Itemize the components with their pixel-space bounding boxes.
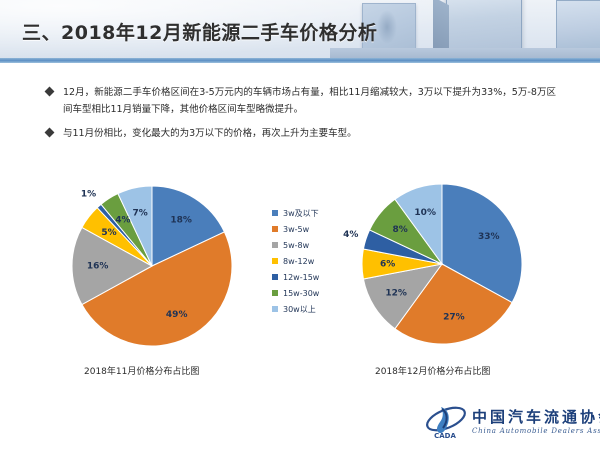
legend-label: 12w-15w [283,273,319,282]
legend-label: 3w-5w [283,225,309,234]
slide-footer: CADA 中国汽车流通协会 China Automobile Dealers A… [0,398,600,450]
pie-slice-label: 18% [170,216,192,226]
pie-slice-label: 10% [414,208,436,218]
legend-swatch-icon [272,226,278,232]
legend-swatch-icon [272,274,278,280]
cada-abbr-text: CADA [434,432,456,440]
bullet-item: 与11月份相比，变化最大的为3万以下的价格，再次上升为主要车型。 [46,125,556,142]
pie-slice-label: 12% [385,289,407,299]
legend-swatch-icon [272,242,278,248]
pie-slice-label: 7% [132,208,147,218]
diamond-bullet-icon [45,128,55,138]
cada-logo: CADA 中国汽车流通协会 China Automobile Dealers A… [424,404,600,440]
legend-label: 5w-8w [283,241,309,250]
cube-edge-icon [556,0,600,50]
legend-swatch-icon [272,290,278,296]
legend-item[interactable]: 15w-30w [272,286,356,300]
pie-svg-december: 33%27%12%6%4%8%10% [358,180,526,348]
pie-chart-december: 33%27%12%6%4%8%10% [358,180,526,348]
cada-logo-en: China Automobile Dealers Association [472,426,600,436]
legend-swatch-icon [272,210,278,216]
legend-item[interactable]: 3w及以下 [272,206,356,220]
legend-label: 8w-12w [283,257,314,266]
legend-item[interactable]: 8w-12w [272,254,356,268]
pie-slice-label: 8% [392,225,407,235]
slide: 三、2018年12月新能源二手车价格分析 12月，新能源二手车价格区间在3-5万… [0,0,600,450]
legend-label: 3w及以下 [283,208,319,219]
bullet-text: 12月，新能源二手车价格区间在3-5万元内的车辆市场占有量，相比11月缩减较大，… [63,84,556,118]
legend-item[interactable]: 5w-8w [272,238,356,252]
legend-item[interactable]: 12w-15w [272,270,356,284]
bullet-item: 12月，新能源二手车价格区间在3-5万元内的车辆市场占有量，相比11月缩减较大，… [46,84,556,118]
caption-november: 2018年11月价格分布占比图 [84,364,199,377]
diamond-bullet-icon [45,87,55,97]
cada-logo-text: 中国汽车流通协会 China Automobile Dealers Associ… [472,409,600,436]
pie-chart-november: 18%49%16%5%1%4%7% [68,182,236,350]
pie-slice-label: 4% [115,216,130,226]
cada-logo-cn: 中国汽车流通协会 [472,409,600,426]
bullet-list: 12月，新能源二手车价格区间在3-5万元内的车辆市场占有量，相比11月缩减较大，… [46,84,556,149]
pie-slice-label: 33% [478,232,500,242]
charts-container: 18%49%16%5%1%4%7% 33%27%12%6%4%8%10% 3w及… [0,172,600,382]
bullet-text: 与11月份相比，变化最大的为3万以下的价格，再次上升为主要车型。 [63,125,556,142]
pie-slice-label: 16% [87,262,109,272]
pie-slice-label: 1% [81,190,96,200]
legend-item[interactable]: 30w以上 [272,302,356,316]
pie-slice-label: 27% [443,313,465,323]
legend-swatch-icon [272,306,278,312]
legend-swatch-icon [272,258,278,264]
caption-december: 2018年12月价格分布占比图 [375,364,490,377]
pie-svg-november: 18%49%16%5%1%4%7% [68,182,236,350]
chart-legend: 3w及以下3w-5w5w-8w8w-12w12w-15w15w-30w30w以上 [272,206,356,318]
pie-slice-label: 6% [380,260,395,270]
pie-slice-label: 49% [166,310,188,320]
header-divider [0,58,600,63]
cada-logo-mark-icon: CADA [424,404,468,440]
legend-item[interactable]: 3w-5w [272,222,356,236]
page-title: 三、2018年12月新能源二手车价格分析 [22,18,377,45]
legend-label: 15w-30w [283,289,319,298]
pie-slice-label: 5% [101,228,116,238]
cube-big-icon [446,0,522,54]
legend-label: 30w以上 [283,304,316,315]
